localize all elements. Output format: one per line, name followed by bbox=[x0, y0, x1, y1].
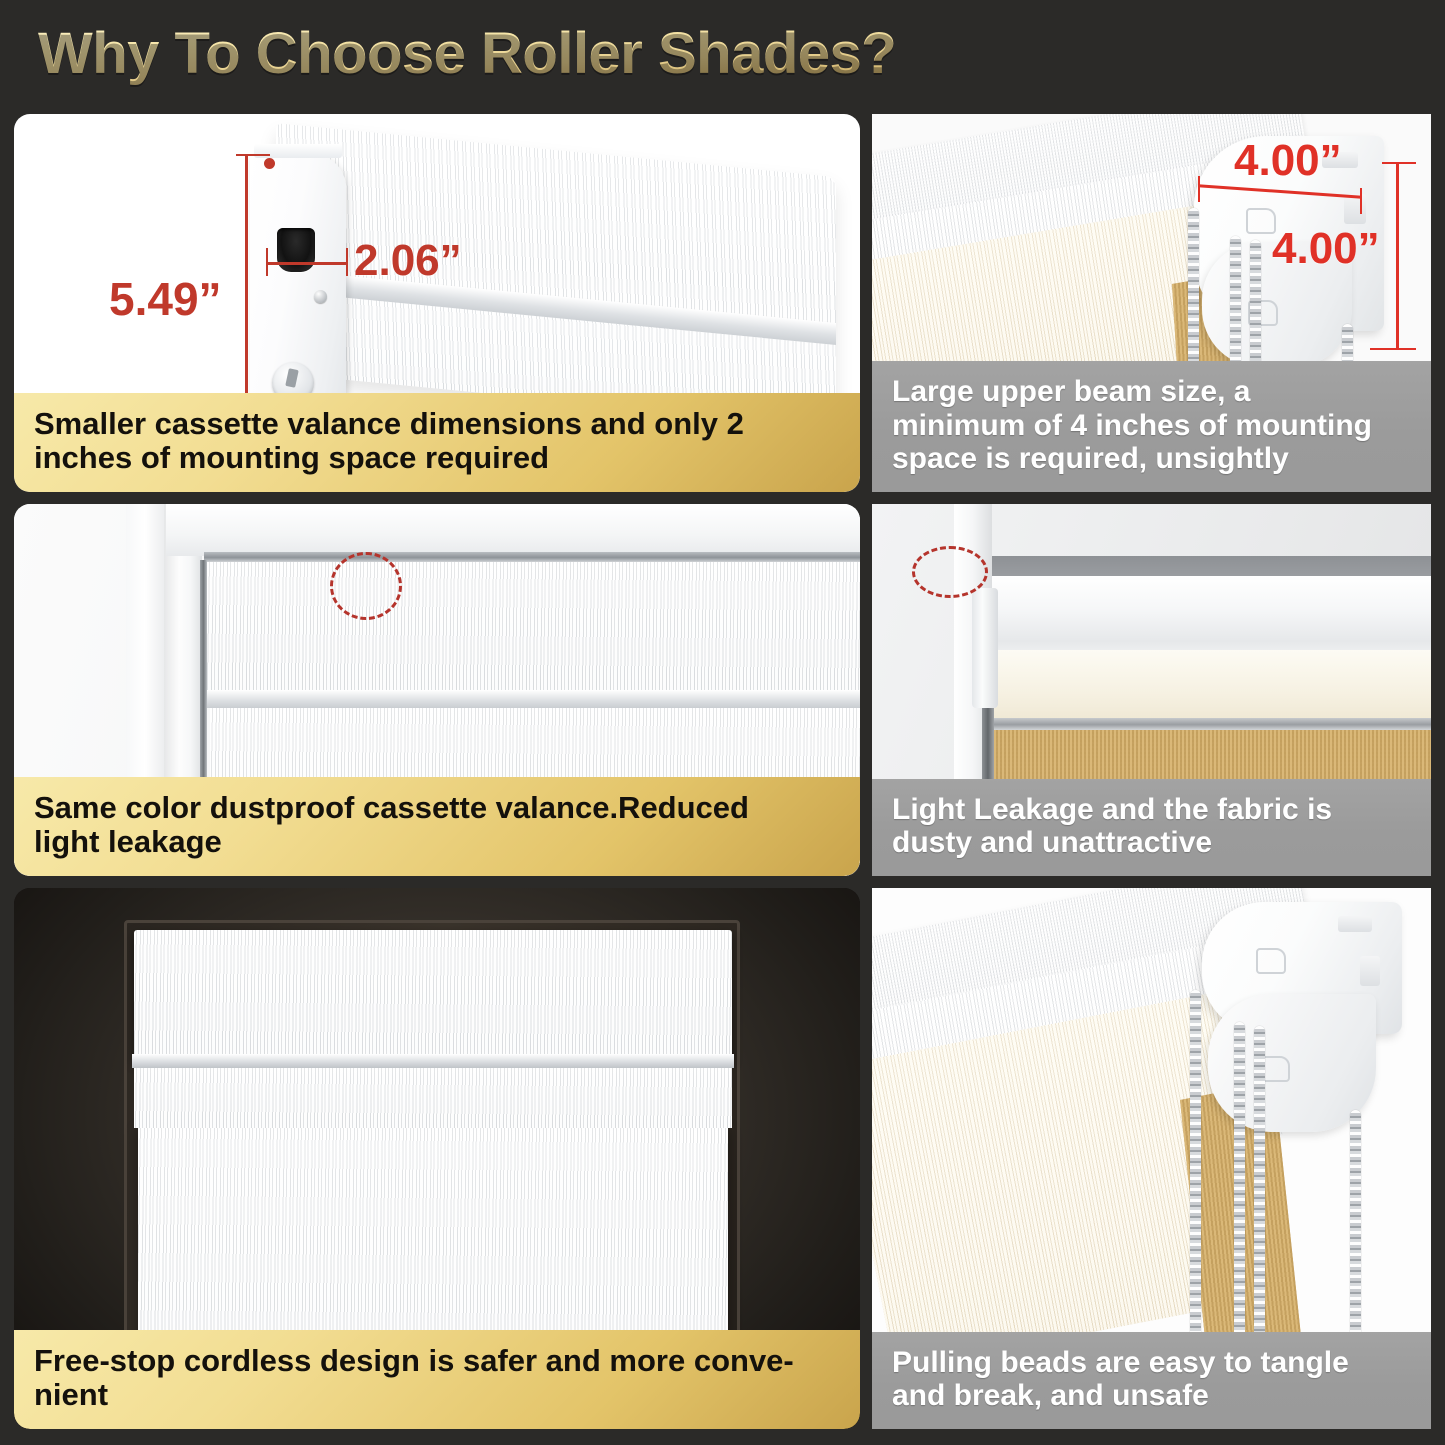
measure-origin-dot bbox=[264, 158, 275, 169]
bracket-slot-top bbox=[1338, 916, 1372, 932]
dashed-ellipse-highlight bbox=[912, 546, 988, 598]
width-tick-left bbox=[266, 248, 268, 276]
width-tick-right bbox=[346, 248, 348, 276]
caption-top-right: Large upper beam size, a minimum of 4 in… bbox=[872, 361, 1431, 492]
cassette-top-rail bbox=[204, 552, 860, 562]
bead-chain-mid-a bbox=[1234, 1022, 1245, 1380]
panel-bottom-left-advantage: Free-stop cordless design is safer and m… bbox=[14, 888, 860, 1429]
panel-bottom-right-disadvantage: Pulling beads are easy to tangle and bre… bbox=[872, 888, 1431, 1429]
bead-chain-mid-b bbox=[1254, 1026, 1265, 1380]
beam-lower-face bbox=[992, 650, 1431, 722]
window-head-trim bbox=[166, 504, 860, 556]
panel-top-right-disadvantage: 4.00” 4.00” Large upper beam size, a min… bbox=[872, 114, 1431, 492]
beam-height-tick-bottom bbox=[1370, 348, 1416, 350]
caption-bottom-right: Pulling beads are easy to tangle and bre… bbox=[872, 1332, 1431, 1429]
cord-slot bbox=[277, 228, 315, 272]
dashed-circle-highlight bbox=[330, 552, 402, 620]
caption-top-left: Smaller cassette valance dimensions and … bbox=[14, 393, 860, 492]
beam-height-dimension-label: 4.00” bbox=[1272, 224, 1380, 274]
beam-height-dimension-line bbox=[1396, 162, 1399, 350]
screw-icon bbox=[314, 290, 327, 303]
beam-width-tick-right bbox=[1360, 188, 1362, 214]
panel-top-left-advantage: 5.49” 2.06” Smaller cassette valance dim… bbox=[14, 114, 860, 492]
bead-chain-left bbox=[1190, 990, 1201, 1380]
panel-middle-right-disadvantage: Large gap Light Leakage and the fabric i… bbox=[872, 504, 1431, 876]
width-dimension-line bbox=[266, 262, 348, 265]
width-dimension-label: 2.06” bbox=[354, 236, 462, 286]
bracket-slot-mid bbox=[1360, 956, 1380, 986]
panel-middle-left-advantage: smaller gap Same color dustproof cassett… bbox=[14, 504, 860, 876]
cassette-lip bbox=[204, 690, 860, 708]
upper-beam bbox=[992, 576, 1431, 658]
valance-lip bbox=[132, 1054, 734, 1068]
caption-middle-left: Same color dustproof cassette valance.Re… bbox=[14, 777, 860, 876]
beam-width-dimension-label: 4.00” bbox=[1234, 136, 1342, 186]
beam-rail bbox=[990, 718, 1431, 730]
beam-width-tick-left bbox=[1198, 176, 1200, 202]
beam-height-tick-top bbox=[1382, 162, 1416, 164]
roller-tube bbox=[134, 1068, 732, 1128]
hook-icon bbox=[1256, 948, 1286, 974]
bracket-slot-mid bbox=[1344, 194, 1366, 224]
caption-bottom-left: Free-stop cordless design is safer and m… bbox=[14, 1330, 860, 1429]
height-tick-top bbox=[236, 154, 270, 156]
title-bar: Why To Choose Roller Shades? bbox=[0, 0, 1445, 104]
cassette-valance bbox=[134, 930, 732, 1060]
bracket-clip bbox=[972, 588, 998, 708]
caption-middle-right: Light Leakage and the fabric is dusty an… bbox=[872, 779, 1431, 876]
page-title: Why To Choose Roller Shades? bbox=[38, 20, 896, 87]
cassette-valance-face bbox=[207, 562, 860, 690]
height-dimension-label: 5.49” bbox=[109, 272, 222, 326]
comparison-grid: 5.49” 2.06” Smaller cassette valance dim… bbox=[0, 104, 1445, 1445]
